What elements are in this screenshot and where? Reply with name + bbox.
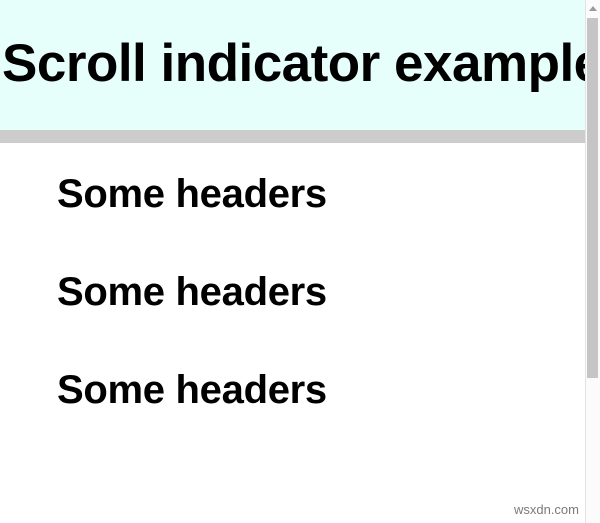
watermark-label: wsxdn.com <box>514 502 579 518</box>
main-content: Some headers Some headers Some headers <box>0 143 585 523</box>
vertical-scrollbar[interactable] <box>585 0 600 523</box>
page-title: Scroll indicator example <box>2 28 585 100</box>
header-banner: Scroll indicator example <box>0 0 585 130</box>
section-heading: Some headers <box>57 368 327 412</box>
section-heading: Some headers <box>57 270 327 314</box>
section-heading: Some headers <box>57 172 327 216</box>
scrollable-content-area: Scroll indicator example Some headers So… <box>0 0 585 523</box>
page-root: Scroll indicator example Some headers So… <box>0 0 600 523</box>
scroll-up-arrow-icon[interactable] <box>586 0 600 16</box>
scrollbar-thumb[interactable] <box>587 18 598 378</box>
scroll-progress-bar <box>0 130 585 143</box>
triangle-up-icon <box>589 6 597 11</box>
